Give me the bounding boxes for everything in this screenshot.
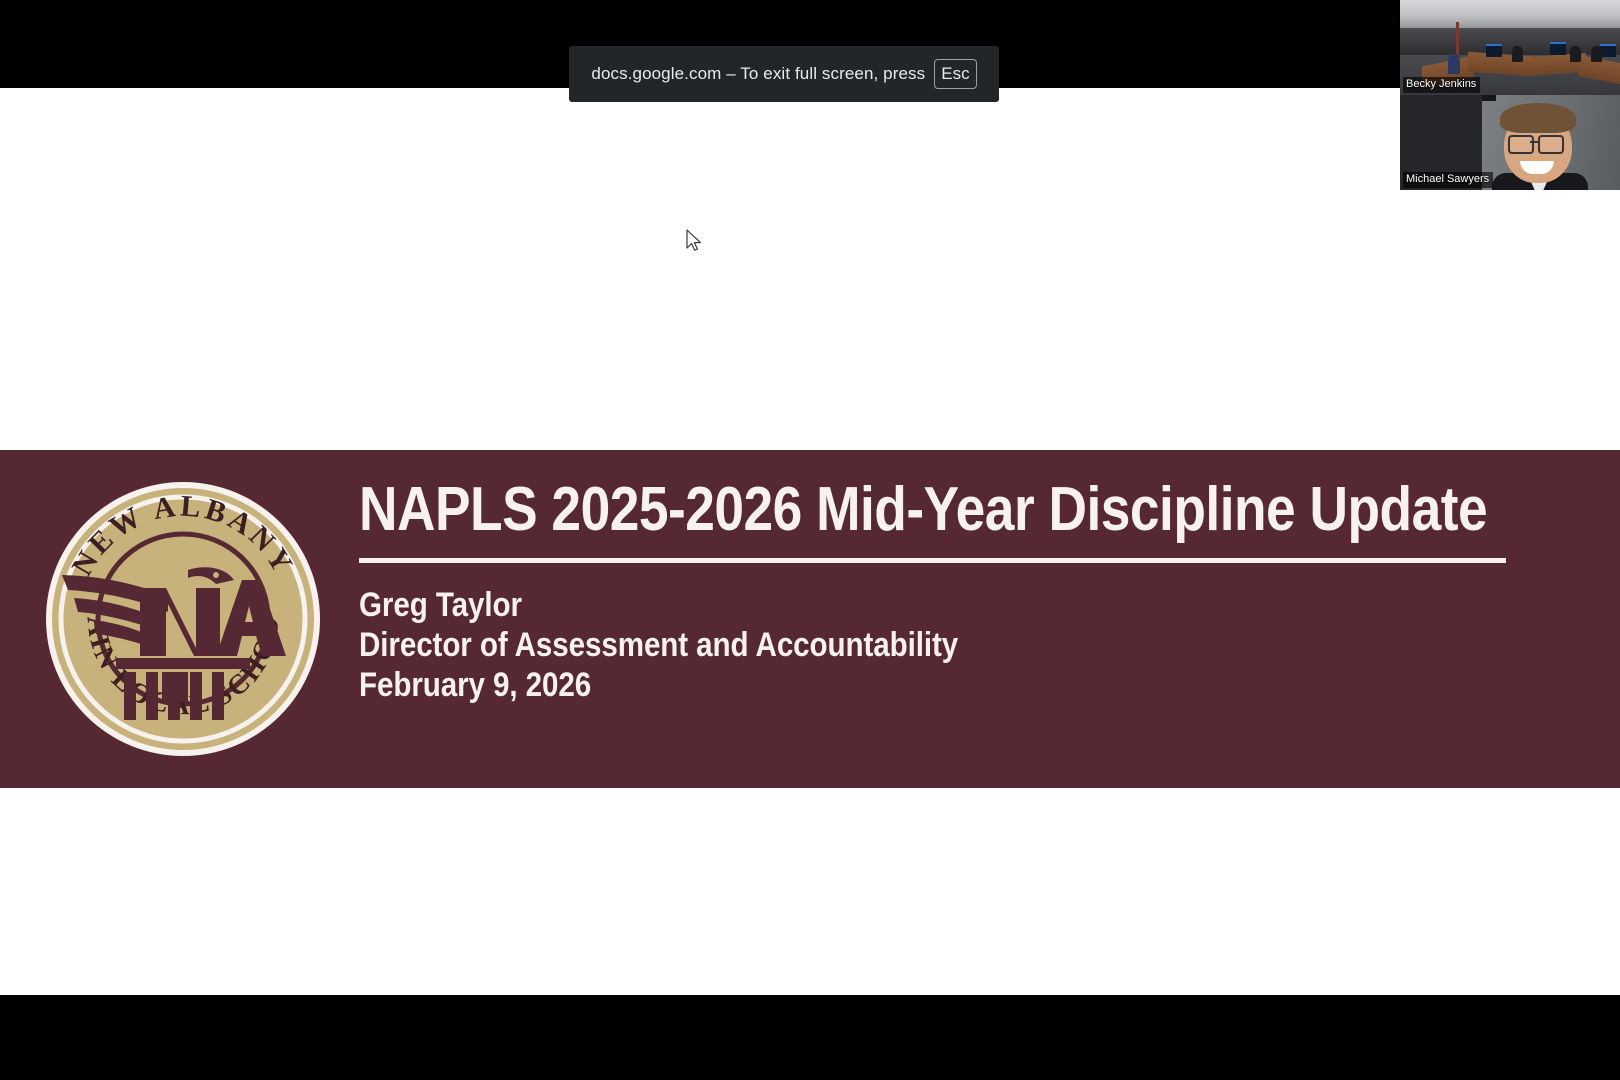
esc-key-badge: Esc (934, 59, 976, 89)
fullscreen-exit-toast: docs.google.com – To exit full screen, p… (569, 46, 999, 102)
video-tile-label: Michael Sawyers (1403, 172, 1493, 188)
slide-subtitle-block: Greg Taylor Director of Assessment and A… (359, 585, 1549, 705)
video-participant-strip: Becky Jenkins Michael Sawyers (1400, 0, 1620, 190)
presenter-name: Greg Taylor (359, 585, 1394, 625)
video-tile-participant[interactable]: Michael Sawyers (1400, 95, 1620, 190)
district-seal-logo: NEW ALBANY PLAIN LOCAL SCHOOLS (44, 480, 322, 758)
presenter-role: Director of Assessment and Accountabilit… (359, 625, 1394, 665)
title-divider-rule (359, 558, 1506, 563)
video-tile-label: Becky Jenkins (1403, 77, 1480, 93)
video-tile-boardroom[interactable]: Becky Jenkins (1400, 0, 1620, 95)
slide-title: NAPLS 2025-2026 Mid-Year Discipline Upda… (359, 473, 1382, 547)
fullscreen-presentation-screen: NEW ALBANY PLAIN LOCAL SCHOOLS (0, 0, 1620, 1080)
fullscreen-toast-message: docs.google.com – To exit full screen, p… (591, 64, 925, 84)
slide-title-block: NAPLS 2025-2026 Mid-Year Discipline Upda… (359, 473, 1549, 705)
slide-canvas: NEW ALBANY PLAIN LOCAL SCHOOLS (0, 88, 1620, 995)
letterbox-bar-bottom (0, 995, 1620, 1080)
presentation-date: February 9, 2026 (359, 665, 1394, 705)
